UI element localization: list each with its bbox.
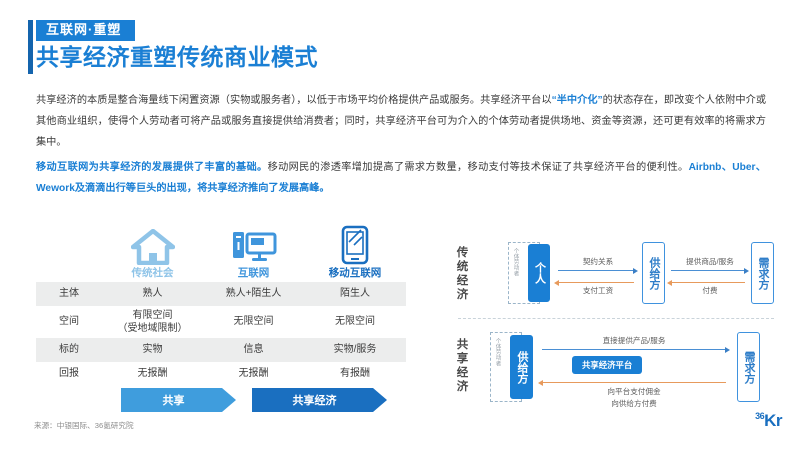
comparison-column-label-2: 移动互联网 bbox=[329, 268, 382, 279]
paragraph-one-highlight: “半中介化” bbox=[552, 95, 603, 106]
comparison-table: 主体 熟人 熟人+陌生人 陌生人 空间 有限空间 （受地域限制） 无限空间 无限… bbox=[36, 282, 406, 386]
comparison-icon-row: 传统社会 互联网 bbox=[36, 216, 406, 278]
table-row-label-3: 回报 bbox=[36, 362, 102, 386]
diagram-arrowhead-direct-supply bbox=[725, 347, 730, 353]
table-row: 主体 熟人 熟人+陌生人 陌生人 bbox=[36, 282, 406, 306]
paragraph-one-part-a: 共享经济的本质是整合海量线下闲置资源（实物或服务者），以低于市场平均价格提供产品… bbox=[36, 95, 552, 106]
diagram-flow-label-wage: 支付工资 bbox=[559, 286, 637, 296]
table-cell-1-2: 无限空间 bbox=[304, 306, 406, 338]
table-row-label-0: 主体 bbox=[36, 282, 102, 306]
arrow-banner-sharing-economy: 共享经济 bbox=[252, 388, 387, 412]
table-row-label-2: 标的 bbox=[36, 338, 102, 362]
diagram-arrowhead-contract bbox=[633, 268, 638, 274]
table-cell-0-0: 熟人 bbox=[102, 282, 203, 306]
diagram-node-label-individual: 个人 bbox=[534, 262, 545, 284]
flow-diagram: 传统经济 个体劳动者 个人 契约关系 支付工资 供给方 提供商品/服务 付费 需… bbox=[452, 232, 782, 422]
diagram-group-label-sharing: 共享经济 bbox=[454, 338, 471, 394]
diagram-node-individual: 个人 bbox=[528, 244, 550, 302]
diagram-arrowhead-payment bbox=[667, 280, 672, 286]
diagram-arrowhead-commission bbox=[538, 380, 543, 386]
table-cell-0-1: 熟人+陌生人 bbox=[203, 282, 304, 306]
source-note: 来源：中银国际、36氪研究院 bbox=[34, 420, 134, 431]
house-icon bbox=[131, 225, 175, 265]
comparison-column-mobile: 移动互联网 bbox=[304, 225, 406, 279]
table-row: 空间 有限空间 （受地域限制） 无限空间 无限空间 bbox=[36, 306, 406, 338]
diagram-flow-line-contract bbox=[558, 270, 634, 271]
header-kicker-badge: 互联网·重塑 bbox=[36, 20, 135, 41]
page-title: 共享经济重塑传统商业模式 bbox=[36, 43, 318, 72]
diagram-flow-label-pay-supplier: 向供给方付费 bbox=[544, 399, 724, 409]
comparison-column-label-1: 互联网 bbox=[238, 268, 270, 279]
diagram-node-supplier-traditional: 供给方 bbox=[642, 242, 665, 304]
diagram-node-demand-traditional: 需求方 bbox=[751, 242, 774, 304]
diagram-flow-label-contract: 契约关系 bbox=[559, 257, 637, 267]
table-cell-1-0-line2: （受地域限制） bbox=[102, 322, 203, 336]
table-cell-1-0-line1: 有限空间 bbox=[102, 309, 203, 323]
table-cell-2-0: 实物 bbox=[102, 338, 203, 362]
diagram-flow-line-payment bbox=[671, 282, 745, 283]
diagram-node-demand-sharing: 需求方 bbox=[737, 332, 760, 402]
table-cell-3-1: 无报酬 bbox=[203, 362, 304, 386]
brand-logo: 36Kr bbox=[755, 412, 782, 430]
arrow-banner-label-sharing-economy: 共享经济 bbox=[293, 392, 347, 408]
diagram-group-label-traditional: 传统经济 bbox=[454, 246, 471, 302]
comparison-column-internet: 互联网 bbox=[203, 225, 304, 279]
diagram-arrowhead-wage bbox=[554, 280, 559, 286]
diagram-flow-line-direct-supply bbox=[542, 349, 726, 350]
diagram-node-label-supplier-traditional: 供给方 bbox=[648, 257, 659, 290]
diagram-node-label-demand-sharing: 需求方 bbox=[743, 351, 754, 384]
brand-logo-number: 36 bbox=[755, 411, 764, 421]
diagram-divider bbox=[458, 318, 774, 319]
comparison-column-label-0: 传统社会 bbox=[132, 268, 174, 279]
arrow-banner-group: 共享 共享经济 bbox=[36, 388, 406, 414]
diagram-node-label-demand-traditional: 需求方 bbox=[757, 257, 768, 290]
paragraph-two-mid: 移动网民的渗透率增加提高了需求方数量，移动支付等技术保证了共享经济平台的便利性。 bbox=[268, 162, 689, 173]
comparison-column-traditional: 传统社会 bbox=[102, 225, 203, 279]
table-cell-3-2: 有报酬 bbox=[304, 362, 406, 386]
desktop-computer-icon bbox=[231, 225, 277, 265]
slide-header: 互联网·重塑 共享经济重塑传统商业模式 bbox=[28, 20, 318, 72]
arrow-banner-shared: 共享 bbox=[121, 388, 236, 412]
slide-root: 互联网·重塑 共享经济重塑传统商业模式 共享经济的本质是整合海量线下闲置资源（实… bbox=[0, 0, 800, 450]
table-cell-3-0: 无报酬 bbox=[102, 362, 203, 386]
smartphone-icon bbox=[340, 225, 370, 265]
paragraph-two-lead: 移动互联网为共享经济的发展提供了丰富的基础。 bbox=[36, 162, 268, 173]
diagram-platform-badge: 共享经济平台 bbox=[572, 356, 642, 374]
diagram-node-label-supplier-sharing: 供给方 bbox=[516, 351, 527, 384]
paragraph-one: 共享经济的本质是整合海量线下闲置资源（实物或服务者），以低于市场平均价格提供产品… bbox=[36, 90, 766, 153]
comparison-panel: 传统社会 互联网 bbox=[36, 216, 406, 386]
diagram-arrowhead-goods bbox=[744, 268, 749, 274]
diagram-flow-label-commission: 向平台支付佣金 bbox=[544, 387, 724, 397]
diagram-dashed-label-traditional: 个体劳动者 bbox=[512, 248, 518, 276]
table-cell-2-2: 实物/服务 bbox=[304, 338, 406, 362]
diagram-node-supplier-sharing: 供给方 bbox=[510, 335, 533, 399]
header-accent-bar bbox=[28, 20, 33, 74]
diagram-flow-line-commission bbox=[542, 382, 726, 383]
table-row: 标的 实物 信息 实物/服务 bbox=[36, 338, 406, 362]
arrow-banner-label-shared: 共享 bbox=[163, 392, 195, 408]
paragraph-two: 移动互联网为共享经济的发展提供了丰富的基础。移动网民的渗透率增加提高了需求方数量… bbox=[36, 157, 766, 199]
diagram-flow-label-goods: 提供商品/服务 bbox=[670, 257, 750, 267]
table-row: 回报 无报酬 无报酬 有报酬 bbox=[36, 362, 406, 386]
diagram-dashed-label-sharing: 个体劳动者 bbox=[494, 338, 500, 366]
table-cell-2-1: 信息 bbox=[203, 338, 304, 362]
diagram-flow-line-wage bbox=[558, 282, 634, 283]
table-row-label-1: 空间 bbox=[36, 306, 102, 338]
table-cell-1-0: 有限空间 （受地域限制） bbox=[102, 306, 203, 338]
table-cell-0-2: 陌生人 bbox=[304, 282, 406, 306]
diagram-flow-label-direct-supply: 直接提供产品/服务 bbox=[544, 336, 724, 346]
brand-logo-kr: Kr bbox=[764, 411, 782, 430]
table-cell-1-1: 无限空间 bbox=[203, 306, 304, 338]
diagram-flow-line-goods bbox=[671, 270, 745, 271]
diagram-flow-label-payment: 付费 bbox=[670, 286, 750, 296]
